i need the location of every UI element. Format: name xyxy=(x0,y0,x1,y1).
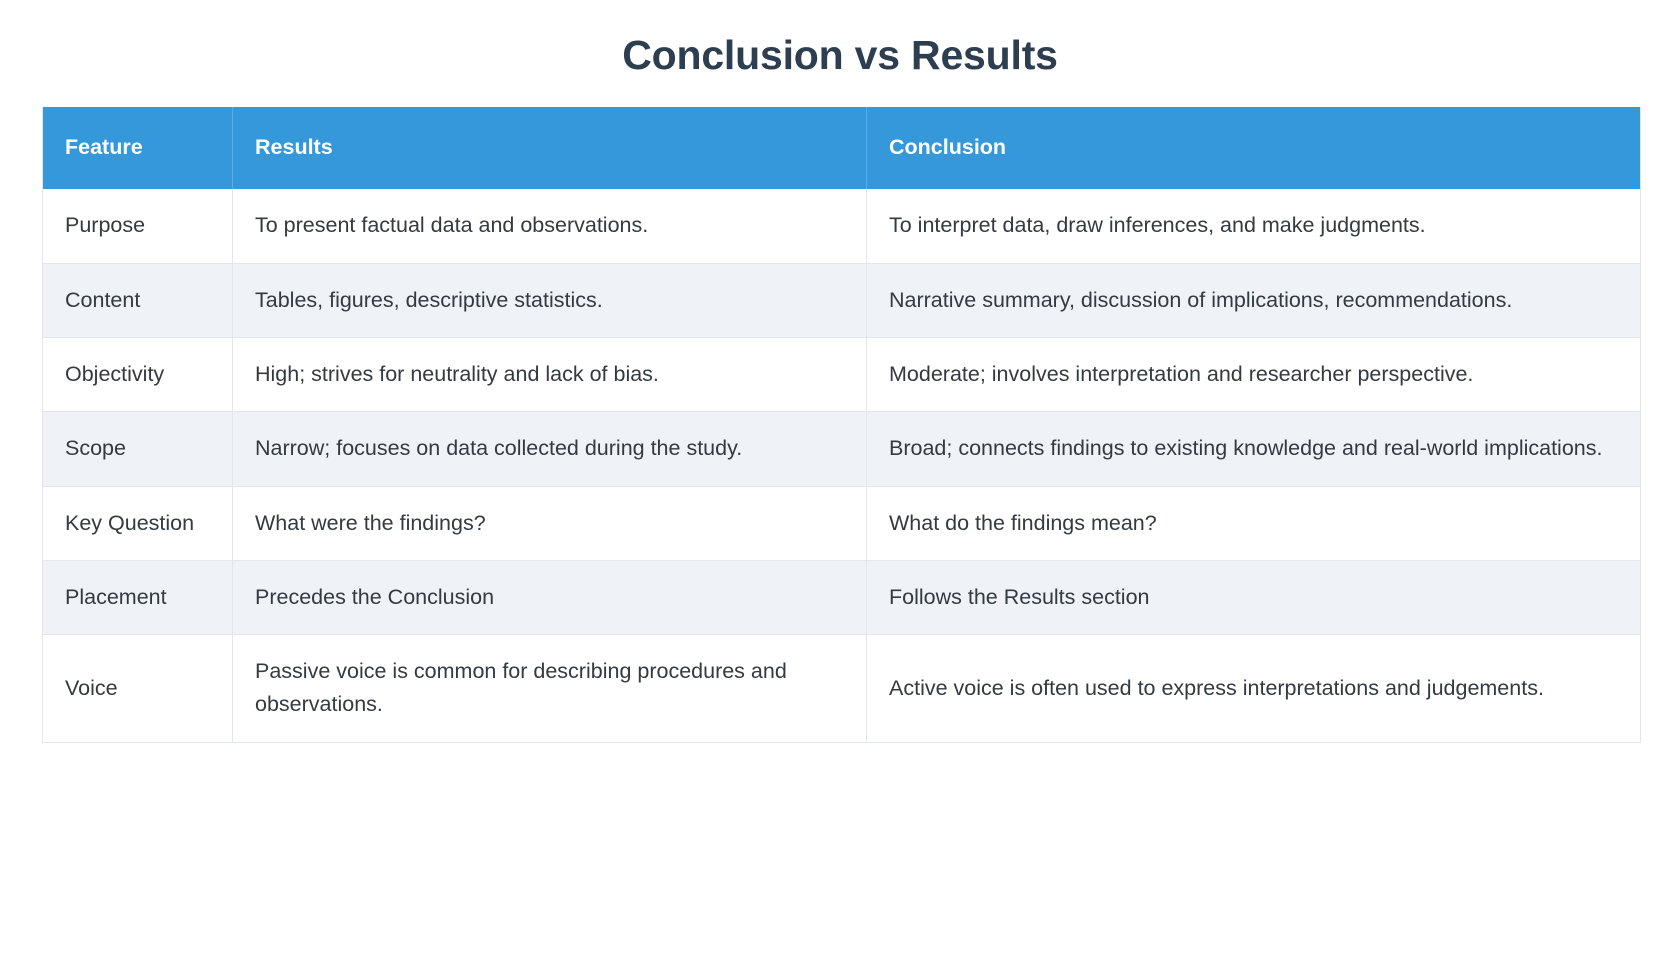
cell-conclusion: Active voice is often used to express in… xyxy=(867,635,1641,743)
column-header-results[interactable]: Results xyxy=(233,107,867,189)
cell-conclusion: Narrative summary, discussion of implica… xyxy=(867,263,1641,337)
cell-results: What were the findings? xyxy=(233,486,867,560)
cell-conclusion: Follows the Results section xyxy=(867,560,1641,634)
cell-feature: Voice xyxy=(43,635,233,743)
column-header-conclusion[interactable]: Conclusion xyxy=(867,107,1641,189)
table-header-row: Feature Results Conclusion xyxy=(43,107,1641,189)
table-row: Objectivity High; strives for neutrality… xyxy=(43,337,1641,411)
cell-results: Tables, figures, descriptive statistics. xyxy=(233,263,867,337)
page-title: Conclusion vs Results xyxy=(0,0,1680,81)
table-body: Purpose To present factual data and obse… xyxy=(43,189,1641,742)
cell-feature: Purpose xyxy=(43,189,233,263)
cell-feature: Key Question xyxy=(43,486,233,560)
cell-feature: Scope xyxy=(43,412,233,486)
cell-feature: Placement xyxy=(43,560,233,634)
cell-feature: Objectivity xyxy=(43,337,233,411)
cell-conclusion: To interpret data, draw inferences, and … xyxy=(867,189,1641,263)
cell-conclusion: What do the findings mean? xyxy=(867,486,1641,560)
page-root: Conclusion vs Results Feature Results Co… xyxy=(0,0,1680,964)
cell-results: High; strives for neutrality and lack of… xyxy=(233,337,867,411)
table-row: Purpose To present factual data and obse… xyxy=(43,189,1641,263)
cell-results: To present factual data and observations… xyxy=(233,189,867,263)
table-row: Placement Precedes the Conclusion Follow… xyxy=(43,560,1641,634)
table-row: Key Question What were the findings? Wha… xyxy=(43,486,1641,560)
cell-results: Passive voice is common for describing p… xyxy=(233,635,867,743)
table-row: Voice Passive voice is common for descri… xyxy=(43,635,1641,743)
cell-conclusion: Moderate; involves interpretation and re… xyxy=(867,337,1641,411)
column-header-feature[interactable]: Feature xyxy=(43,107,233,189)
comparison-table-container: Feature Results Conclusion Purpose To pr… xyxy=(42,107,1640,743)
table-row: Scope Narrow; focuses on data collected … xyxy=(43,412,1641,486)
cell-feature: Content xyxy=(43,263,233,337)
table-row: Content Tables, figures, descriptive sta… xyxy=(43,263,1641,337)
table-header: Feature Results Conclusion xyxy=(43,107,1641,189)
cell-conclusion: Broad; connects findings to existing kno… xyxy=(867,412,1641,486)
cell-results: Narrow; focuses on data collected during… xyxy=(233,412,867,486)
comparison-table: Feature Results Conclusion Purpose To pr… xyxy=(42,107,1641,743)
cell-results: Precedes the Conclusion xyxy=(233,560,867,634)
